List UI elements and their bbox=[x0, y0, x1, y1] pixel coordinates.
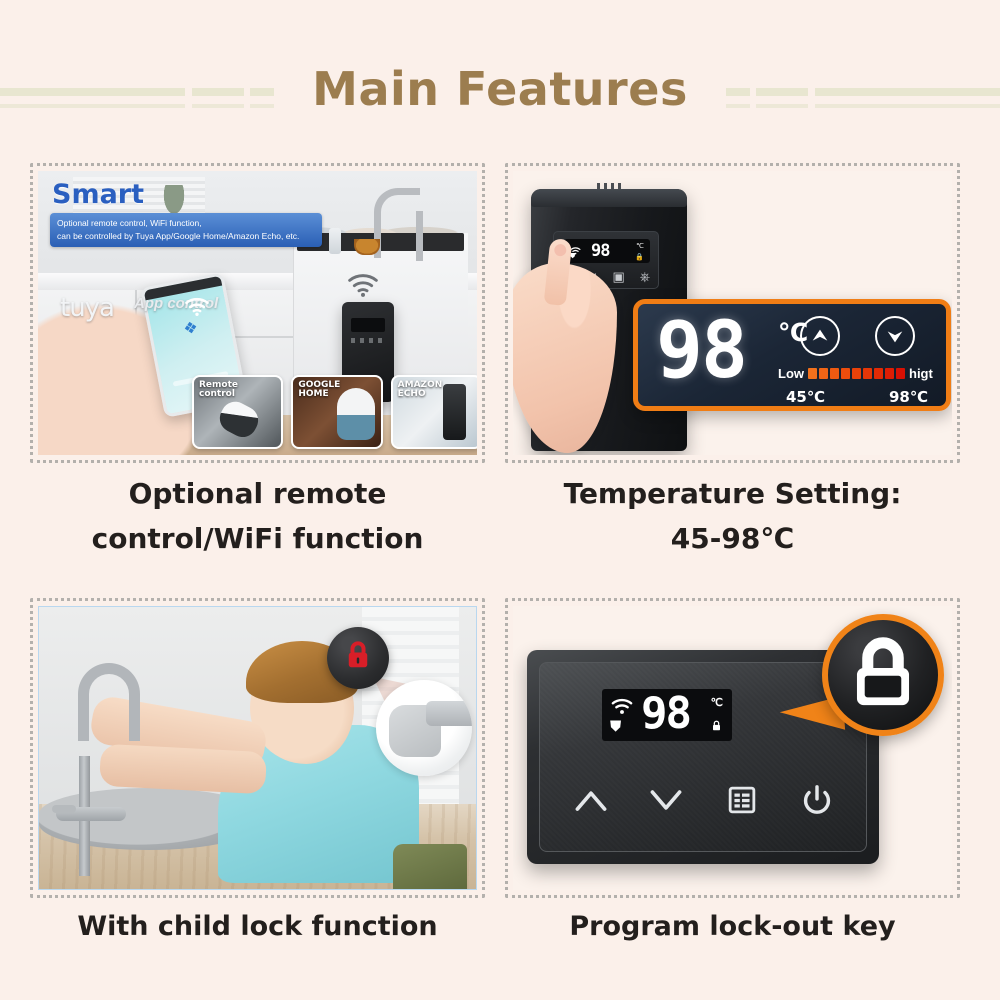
temperature-min-label: 45℃ bbox=[786, 388, 825, 406]
padlock-icon bbox=[343, 639, 373, 676]
device-closeup-circle bbox=[376, 680, 472, 776]
arrow-down-circle-icon[interactable] bbox=[875, 316, 915, 356]
caption-line-1: With child lock function bbox=[30, 905, 485, 948]
callout-temperature-value: 98 bbox=[656, 312, 746, 390]
wifi-icon bbox=[346, 273, 380, 297]
caption-line-1: Optional remote bbox=[30, 472, 485, 517]
thumbnail-label-line2: HOME bbox=[298, 390, 340, 399]
heater-lcd-display: ⛊ 98 ℃ 🔒 bbox=[564, 239, 650, 263]
menu-list-icon[interactable] bbox=[719, 777, 765, 823]
lcd-display: ⛊ 98 ℃ bbox=[602, 689, 732, 741]
caption-line-1: Program lock-out key bbox=[505, 905, 960, 948]
feature-card-temperature-setting: ⛊ 98 ℃ 🔒 ∧ ∨ ▣ ⎈ NOU bbox=[505, 163, 960, 463]
temperature-segment-bar bbox=[808, 368, 905, 379]
tuya-logo: tuya bbox=[60, 293, 114, 323]
compat-thumbnail-list: Remote control GOOGLE HOME AMAZON ECHO bbox=[192, 375, 477, 449]
callout-arrow-buttons bbox=[782, 316, 932, 356]
heater-lcd-value: 98 bbox=[591, 241, 609, 261]
lcd-temperature-unit: ℃ bbox=[711, 696, 723, 709]
caption-child-lock: With child lock function bbox=[30, 905, 485, 948]
thumbnail-amazon-echo: AMAZON ECHO bbox=[391, 375, 477, 449]
caption-temperature-setting: Temperature Setting: 45-98℃ bbox=[505, 472, 960, 562]
thumbnail-remote-control: Remote control bbox=[192, 375, 283, 449]
lcd-temperature-value: 98 bbox=[641, 692, 690, 736]
wifi-icon bbox=[611, 698, 633, 720]
power-icon[interactable]: ⎈ bbox=[640, 270, 650, 283]
temperature-max-label: 98℃ bbox=[889, 388, 928, 406]
caption-line-2: control/WiFi function bbox=[30, 517, 485, 562]
infographic-page: Main Features bbox=[0, 0, 1000, 1000]
caption-line-1: Temperature Setting: bbox=[505, 472, 960, 517]
thumbnail-google-home: GOOGLE HOME bbox=[291, 375, 382, 449]
caption-remote-wifi: Optional remote control/WiFi function bbox=[30, 472, 485, 562]
lock-callout-badge bbox=[822, 614, 944, 736]
padlock-icon bbox=[710, 719, 723, 738]
chevron-down-icon[interactable] bbox=[643, 777, 689, 823]
control-panel-keys bbox=[568, 777, 840, 823]
wifi-icon bbox=[184, 297, 210, 321]
chevron-up-icon[interactable] bbox=[568, 777, 614, 823]
thumbnail-label-line2: ECHO bbox=[398, 390, 443, 399]
scale-high-label: higt bbox=[909, 366, 933, 381]
thumbnail-label-line2: control bbox=[199, 390, 238, 399]
power-icon[interactable] bbox=[794, 777, 840, 823]
steam-cup-icon: ⛊ bbox=[610, 719, 621, 734]
remote-wifi-image: ❖ Smart Optional remote control, WiFi fu… bbox=[38, 171, 477, 455]
scale-low-label: Low bbox=[778, 366, 804, 381]
header: Main Features bbox=[0, 0, 1000, 155]
padlock-icon: 🔒 bbox=[635, 253, 644, 261]
caption-program-lock-out: Program lock-out key bbox=[505, 905, 960, 948]
smart-description-line1: Optional remote control, WiFi function, bbox=[57, 217, 315, 230]
temperature-range-labels: 45℃ 98℃ bbox=[786, 388, 928, 406]
feature-card-child-lock bbox=[30, 598, 485, 898]
faucet-illustration bbox=[78, 663, 140, 741]
child-lock-badge bbox=[327, 627, 389, 689]
temperature-setting-image: ⛊ 98 ℃ 🔒 ∧ ∨ ▣ ⎈ NOU bbox=[513, 171, 952, 455]
smart-description-line2: can be controlled by Tuya App/Google Hom… bbox=[57, 230, 315, 243]
caption-line-2: 45-98℃ bbox=[505, 517, 960, 562]
temperature-callout: 98 ℃ Low bbox=[633, 299, 951, 411]
temperature-scale: Low higt bbox=[778, 366, 936, 381]
child-lock-image bbox=[38, 606, 477, 890]
heater-lcd-unit: ℃ bbox=[636, 242, 644, 250]
padlock-icon bbox=[847, 634, 919, 717]
menu-list-icon[interactable]: ▣ bbox=[613, 270, 625, 283]
smart-brand-label: Smart bbox=[52, 179, 144, 210]
feature-card-remote-wifi: ❖ Smart Optional remote control, WiFi fu… bbox=[30, 163, 485, 463]
arrow-up-circle-icon[interactable] bbox=[800, 316, 840, 356]
feature-card-program-lock-out: ⛊ 98 ℃ bbox=[505, 598, 960, 898]
smart-description-banner: Optional remote control, WiFi function, … bbox=[50, 213, 322, 247]
program-lock-out-image: ⛊ 98 ℃ bbox=[513, 606, 952, 890]
